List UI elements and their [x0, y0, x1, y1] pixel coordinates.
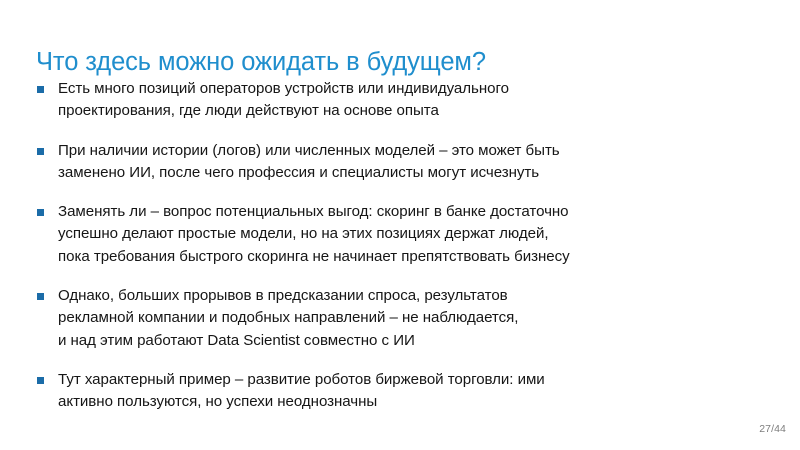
bullet-item-3: Заменять ли – вопрос потенциальных выгод…: [0, 201, 800, 268]
bullet-line: и над этим работают Data Scientist совме…: [58, 330, 772, 352]
bullet-item-4: Однако, больших прорывов в предсказании …: [0, 285, 800, 352]
bullet-item-5: Тут характерный пример – развитие робото…: [0, 369, 800, 414]
page-indicator: 27/44: [759, 423, 786, 436]
square-bullet-icon: [37, 86, 44, 93]
presentation-slide: Что здесь можно ожидать в будущем? Есть …: [0, 0, 800, 450]
bullet-line: При наличии истории (логов) или численны…: [58, 140, 772, 162]
bullet-line: проектирования, где люди действуют на ос…: [58, 100, 772, 122]
bullet-line: Однако, больших прорывов в предсказании …: [58, 285, 772, 307]
bullet-text-4: Однако, больших прорывов в предсказании …: [58, 285, 772, 352]
square-bullet-icon: [37, 293, 44, 300]
bullet-list: Есть много позиций операторов устройств …: [0, 78, 800, 414]
square-bullet-icon: [37, 377, 44, 384]
square-bullet-icon: [37, 209, 44, 216]
bullet-line: рекламной компании и подобных направлени…: [58, 307, 772, 329]
bullet-line: Тут характерный пример – развитие робото…: [58, 369, 772, 391]
bullet-text-3: Заменять ли – вопрос потенциальных выгод…: [58, 201, 772, 268]
square-bullet-icon: [37, 148, 44, 155]
slide-title: Что здесь можно ожидать в будущем?: [36, 47, 756, 77]
bullet-item-1: Есть много позиций операторов устройств …: [0, 78, 800, 123]
bullet-text-1: Есть много позиций операторов устройств …: [58, 78, 772, 123]
bullet-text-5: Тут характерный пример – развитие робото…: [58, 369, 772, 414]
bullet-text-2: При наличии истории (логов) или численны…: [58, 140, 772, 185]
bullet-line: активно пользуются, но успехи неоднознач…: [58, 391, 772, 413]
bullet-line: успешно делают простые модели, но на эти…: [58, 223, 772, 245]
bullet-line: Есть много позиций операторов устройств …: [58, 78, 772, 100]
bullet-line: заменено ИИ, после чего профессия и спец…: [58, 162, 772, 184]
bullet-item-2: При наличии истории (логов) или численны…: [0, 140, 800, 185]
bullet-line: Заменять ли – вопрос потенциальных выгод…: [58, 201, 772, 223]
bullet-line: пока требования быстрого скоринга не нач…: [58, 246, 772, 268]
